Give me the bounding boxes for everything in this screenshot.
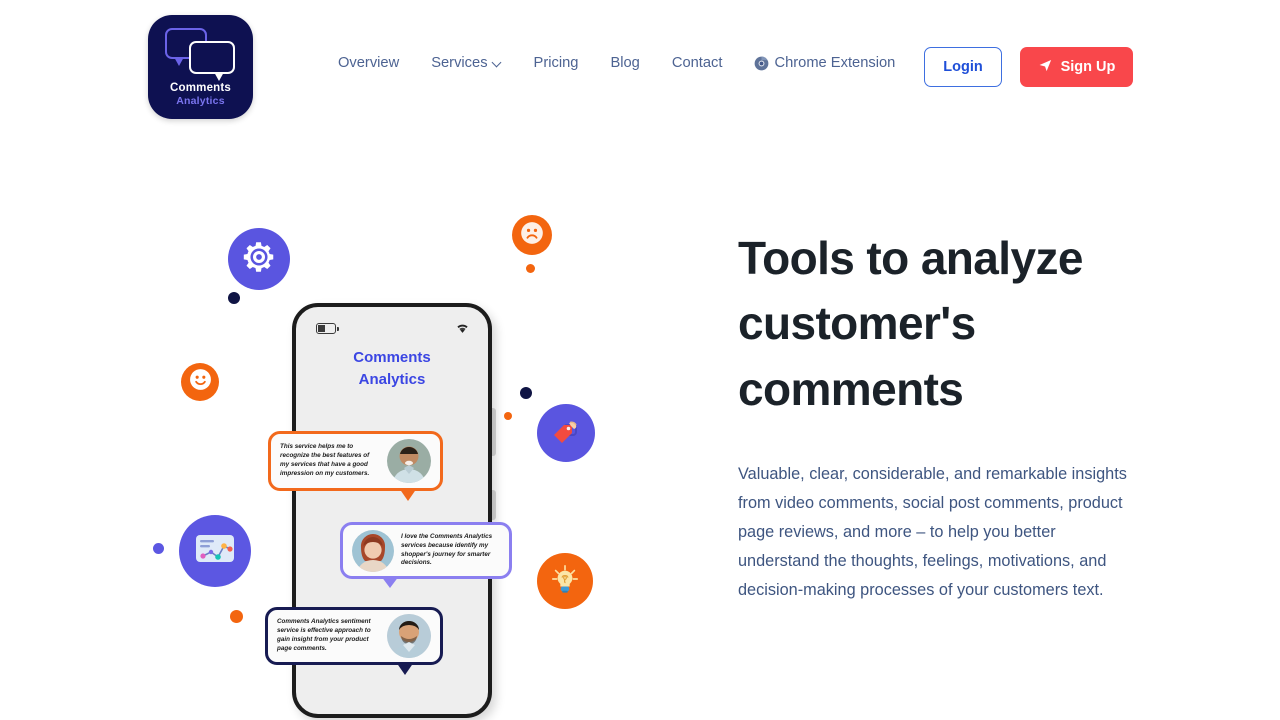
nav-label: Pricing	[534, 55, 579, 71]
lightbulb-badge	[537, 553, 593, 609]
decorative-dot	[504, 412, 512, 420]
nav-item-pricing[interactable]: Pricing	[534, 55, 579, 71]
hero-subtitle: Valuable, clear, considerable, and remar…	[738, 460, 1130, 605]
nav-item-blog[interactable]: Blog	[610, 55, 639, 71]
landing-page: Comments Analytics Overview Services Pri…	[0, 0, 1280, 720]
gear-badge	[228, 228, 290, 290]
testimonial-bubble: I love the Comments Analytics services b…	[340, 522, 512, 579]
login-label: Login	[943, 59, 982, 75]
decorative-dot	[520, 387, 532, 399]
chevron-down-icon	[493, 58, 502, 67]
logo-text-secondary: Analytics	[176, 95, 225, 107]
testimonial-text: Comments Analytics sentiment service is …	[277, 618, 380, 654]
nav-label: Chrome Extension	[774, 55, 895, 71]
price-tag-badge	[537, 404, 595, 462]
gear-icon	[240, 238, 278, 281]
lightbulb-icon	[550, 564, 580, 599]
nav-label: Services	[431, 55, 487, 71]
nav-label: Blog	[610, 55, 639, 71]
logo-text-primary: Comments	[170, 82, 231, 94]
comments-analytics-logo[interactable]: Comments Analytics	[148, 15, 253, 119]
phone-brand-text: Comments Analytics	[296, 347, 488, 391]
decorative-dot	[230, 610, 243, 623]
nav-item-contact[interactable]: Contact	[672, 55, 723, 71]
testimonial-bubble: Comments Analytics sentiment service is …	[265, 607, 443, 665]
analytics-chart-badge	[179, 515, 251, 587]
nav-item-overview[interactable]: Overview	[338, 55, 399, 71]
wifi-icon	[455, 321, 470, 334]
sad-face-icon	[519, 220, 545, 251]
login-button[interactable]: Login	[924, 47, 1002, 87]
sad-face-badge	[512, 215, 552, 255]
hero-illustration: Comments Analytics This service helps me…	[140, 190, 700, 720]
nav-label: Overview	[338, 55, 399, 71]
page-title: Tools to analyze customer's comments	[738, 226, 1158, 422]
signup-label: Sign Up	[1061, 59, 1116, 75]
phone-brand-line2: Analytics	[296, 369, 488, 391]
site-header: Comments Analytics Overview Services Pri…	[0, 0, 1280, 135]
chrome-icon	[754, 56, 769, 71]
testimonial-text: I love the Comments Analytics services b…	[401, 533, 500, 569]
decorative-dot	[526, 264, 535, 273]
nav-label: Contact	[672, 55, 723, 71]
avatar	[387, 614, 431, 658]
decorative-dot	[228, 292, 240, 304]
smiley-face-icon	[188, 367, 213, 397]
avatar	[387, 439, 431, 483]
nav-item-services[interactable]: Services	[431, 55, 501, 71]
signup-button[interactable]: Sign Up	[1020, 47, 1133, 87]
main-navigation: Overview Services Pricing Blog Contact	[338, 55, 895, 71]
paper-plane-icon	[1038, 58, 1053, 77]
avatar	[352, 530, 394, 572]
speech-bubbles-icon	[163, 28, 239, 80]
decorative-dot	[153, 543, 164, 554]
nav-item-chrome-extension[interactable]: Chrome Extension	[754, 55, 895, 71]
testimonial-bubble: This service helps me to recognize the b…	[268, 431, 443, 491]
analytics-chart-icon	[195, 533, 235, 570]
price-tag-icon	[550, 415, 582, 452]
battery-icon	[316, 323, 336, 334]
testimonial-text: This service helps me to recognize the b…	[280, 443, 380, 479]
smiley-badge	[181, 363, 219, 401]
phone-brand-line1: Comments	[296, 347, 488, 369]
